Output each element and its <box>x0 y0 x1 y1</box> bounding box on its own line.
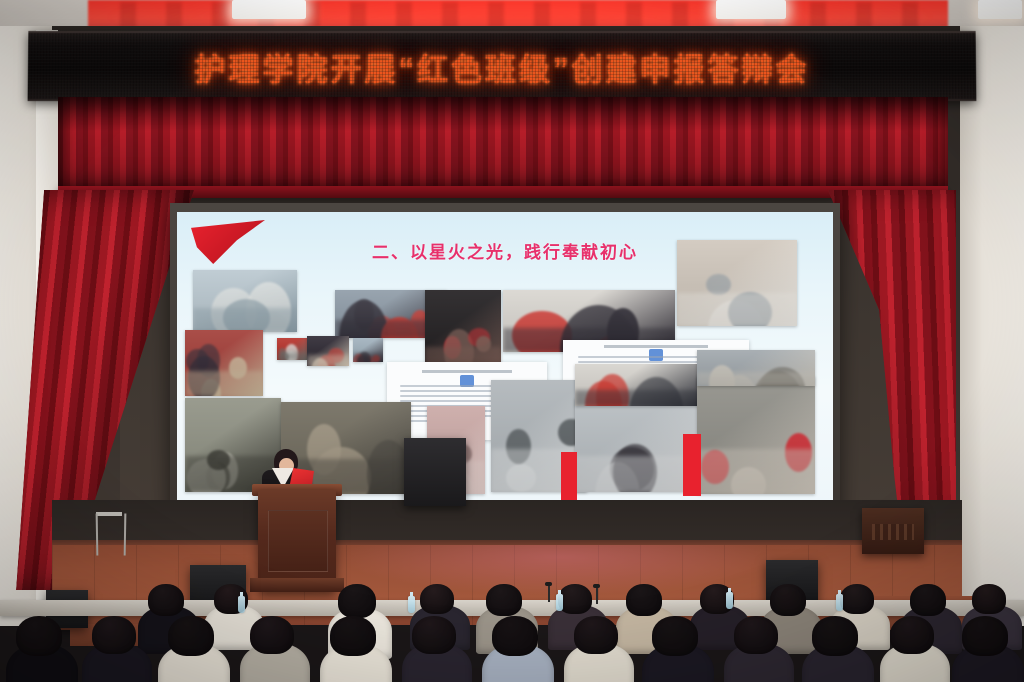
photo-subject-blob <box>752 371 803 386</box>
photo-subject-blob <box>720 375 759 386</box>
photo-subject-blob <box>585 381 621 406</box>
photo-subject-blob <box>506 464 536 492</box>
audience-member-head <box>972 584 1006 614</box>
photo-horizon-band <box>307 355 349 366</box>
audience-member-head <box>148 584 184 616</box>
photo-subject-blob <box>701 450 729 484</box>
audience-member-head <box>492 616 538 656</box>
audience-member-head <box>250 616 294 654</box>
photo-subject-blob <box>709 365 735 386</box>
photo-subject-blob <box>444 336 461 359</box>
photo-subject-blob <box>613 444 657 492</box>
photo-subject-blob <box>596 374 628 406</box>
photo-subject-blob <box>311 358 329 366</box>
photo-subject-blob <box>339 300 389 338</box>
slide-photo-village-building-photo <box>193 270 297 332</box>
photo-subject-blob <box>206 462 230 492</box>
auditorium-scene: 护理学院开展“红色班级”创建申报答辩会 二、以星火之光，践行奉献初心 <box>0 0 1024 682</box>
led-banner-text: 护理学院开展“红色班级”创建申报答辩会 <box>28 44 976 89</box>
photo-subject-blob <box>212 452 238 489</box>
photo-subject-blob <box>357 355 369 362</box>
photo-subject-blob <box>186 349 210 374</box>
photo-subject-blob <box>279 348 286 355</box>
photo-subject-blob <box>318 355 335 366</box>
audience-member-head <box>652 616 698 656</box>
slide-accent-red-band-lower <box>561 452 577 500</box>
microphone-stand <box>596 588 598 604</box>
audience-member-head <box>962 616 1008 656</box>
microphone-head <box>593 584 600 588</box>
photo-horizon-band <box>697 449 815 494</box>
audience-member-head <box>168 616 214 656</box>
water-bottle <box>836 594 843 611</box>
photo-horizon-band <box>185 371 263 396</box>
photo-subject-blob <box>246 282 291 332</box>
right-wall <box>960 26 1024 626</box>
audience-member-head <box>412 616 456 654</box>
ceiling-light-1 <box>232 0 306 19</box>
photo-subject-blob <box>468 328 490 348</box>
valance-shading <box>58 97 948 195</box>
slide-photo-redvest-donation-photo <box>575 364 699 406</box>
microphone-stand <box>548 586 550 602</box>
photo-subject-blob <box>506 429 531 463</box>
photo-subject-blob <box>358 352 370 362</box>
photo-horizon-band <box>353 353 383 362</box>
photo-subject-blob <box>476 336 491 352</box>
photo-subject-blob <box>254 312 291 332</box>
photo-subject-blob <box>328 348 344 363</box>
laptop-lid <box>404 438 466 506</box>
photo-subject-blob <box>286 351 295 360</box>
metal-stool-legs <box>96 514 127 556</box>
document-heading-line <box>604 345 708 348</box>
photo-subject-blob <box>229 357 247 379</box>
audience-member-head <box>890 616 934 654</box>
audience-member-head <box>840 584 874 614</box>
photo-subject-blob <box>365 356 372 362</box>
photo-subject-blob <box>188 356 220 396</box>
photo-horizon-band <box>277 352 307 360</box>
photo-subject-blob <box>187 459 226 492</box>
slide-accent-red-band-right <box>683 434 701 496</box>
photo-subject-blob <box>372 355 380 362</box>
photo-subject-blob <box>760 367 805 386</box>
slide-photo-students-walking-photo <box>575 398 699 492</box>
cabinet-carving <box>872 524 914 540</box>
photo-subject-blob <box>706 274 731 296</box>
water-bottle <box>408 596 415 613</box>
audience-member-head <box>910 584 946 616</box>
photo-subject-blob <box>201 379 222 396</box>
audience-member-head <box>420 584 454 614</box>
audience-member-head <box>574 616 618 654</box>
audience-member-head <box>770 584 806 616</box>
audience-member-head <box>330 616 376 656</box>
audience-member-head <box>486 584 522 616</box>
photo-subject-blob <box>197 344 220 377</box>
photo-subject-blob <box>610 447 654 490</box>
audience-member-head <box>338 584 376 618</box>
photo-subject-blob <box>728 292 773 326</box>
photo-subject-blob <box>629 377 684 406</box>
stage-valance <box>58 97 948 195</box>
slide-photo-tricycle-street-photo <box>697 350 815 386</box>
audience-member-head <box>92 616 136 654</box>
photo-subject-blob <box>731 467 766 494</box>
photo-subject-blob <box>207 450 230 470</box>
audience-member-head <box>734 616 778 654</box>
photo-subject-blob <box>279 352 289 360</box>
slide-photo-thumb-strip-3 <box>353 338 383 362</box>
water-bottle <box>556 594 563 611</box>
photo-subject-blob <box>223 299 270 332</box>
slide-photo-bedside-care-photo <box>677 240 797 326</box>
water-bottle <box>726 592 733 609</box>
photo-horizon-band <box>677 293 797 326</box>
photo-subject-blob <box>285 344 299 360</box>
seated-audience <box>0 560 1024 682</box>
photo-subject-blob <box>354 299 374 330</box>
audience-member-head <box>558 584 592 614</box>
document-heading-line <box>422 370 512 373</box>
audience-member-head <box>16 616 62 656</box>
photo-subject-blob <box>307 424 341 476</box>
slide-photo-thumb-strip-2 <box>307 336 349 366</box>
slide-photo-thumb-strip-1 <box>277 338 307 360</box>
photo-subject-blob <box>368 316 396 338</box>
photo-horizon-band <box>575 456 699 492</box>
photo-subject-blob <box>708 300 764 326</box>
audience-member-head <box>812 616 858 656</box>
slide-photo-pennant-presentation-photo <box>697 376 815 494</box>
led-banner-board: 护理学院开展“红色班级”创建申报答辩会 <box>28 31 977 101</box>
slide-photo-volunteer-kneeling-photo <box>185 330 263 396</box>
audience-member-head <box>626 584 662 616</box>
photo-horizon-band <box>575 390 699 406</box>
ceiling-light-3 <box>978 0 1022 19</box>
ceiling-light-2 <box>716 0 786 19</box>
photo-subject-blob <box>211 288 256 332</box>
photo-subject-blob <box>353 354 364 362</box>
photo-horizon-band <box>697 372 815 386</box>
photo-subject-blob <box>595 462 640 492</box>
microphone-head <box>545 582 552 586</box>
photo-subject-blob <box>381 317 418 338</box>
water-bottle <box>238 596 245 613</box>
photo-subject-blob <box>785 433 812 472</box>
photo-horizon-band <box>193 308 297 332</box>
